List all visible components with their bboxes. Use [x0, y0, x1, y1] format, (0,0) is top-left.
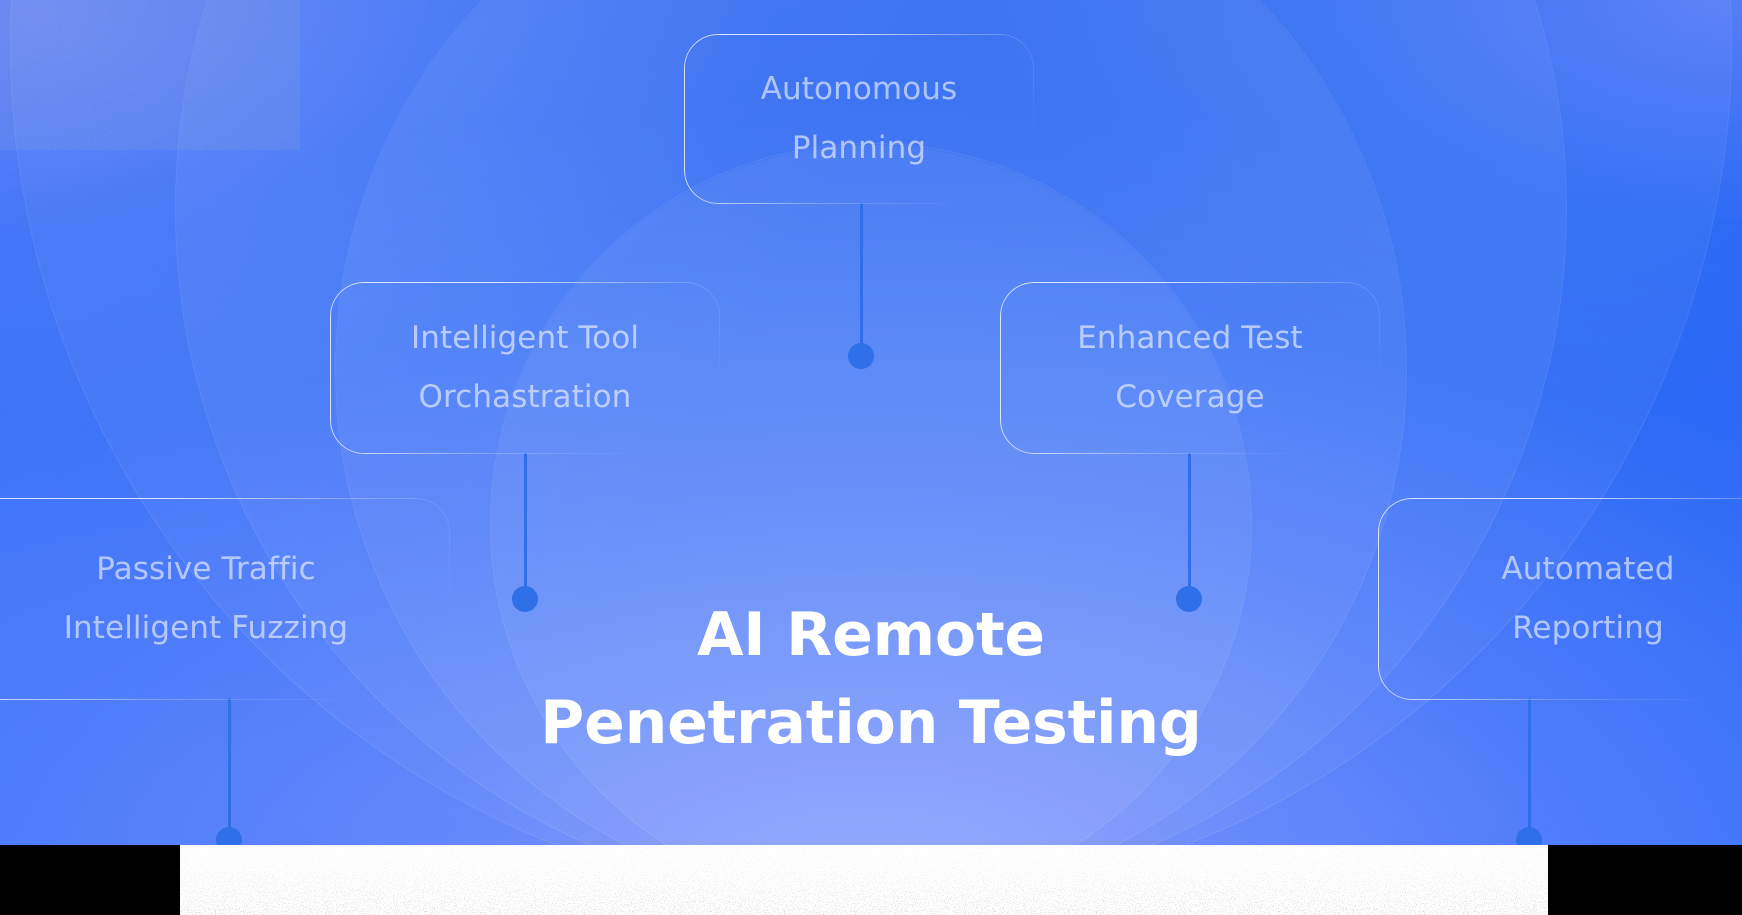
connector-dot-autonomous-planning	[848, 343, 874, 369]
connector-autonomous-planning	[860, 203, 863, 355]
center-title: AI Remote Penetration Testing	[0, 592, 1742, 767]
node-automated-reporting-line1: Automated	[1502, 540, 1675, 599]
node-intelligent-tool-line2: Orchastration	[419, 368, 632, 427]
grain-overlay	[0, 0, 300, 150]
hero-background: Autonomous Planning Intelligent Tool Orc…	[0, 0, 1742, 845]
node-autonomous-planning[interactable]: Autonomous Planning	[684, 34, 1034, 204]
node-intelligent-tool-orchastration[interactable]: Intelligent Tool Orchastration	[330, 282, 720, 454]
connector-intelligent-tool	[524, 453, 527, 598]
connector-dot-passive-traffic	[216, 827, 242, 845]
center-title-line1: AI Remote	[0, 592, 1742, 680]
connector-enhanced-test	[1188, 453, 1191, 598]
node-autonomous-planning-line1: Autonomous	[761, 60, 958, 119]
node-enhanced-test-coverage[interactable]: Enhanced Test Coverage	[1000, 282, 1380, 454]
node-enhanced-test-line1: Enhanced Test	[1077, 309, 1303, 368]
node-enhanced-test-line2: Coverage	[1115, 368, 1264, 427]
diagram-canvas: Autonomous Planning Intelligent Tool Orc…	[0, 0, 1742, 915]
node-passive-traffic-line1: Passive Traffic	[96, 540, 316, 599]
node-autonomous-planning-line2: Planning	[792, 119, 926, 178]
node-intelligent-tool-line1: Intelligent Tool	[411, 309, 639, 368]
connector-dot-automated-reporting	[1516, 827, 1542, 845]
center-title-line2: Penetration Testing	[0, 680, 1742, 768]
